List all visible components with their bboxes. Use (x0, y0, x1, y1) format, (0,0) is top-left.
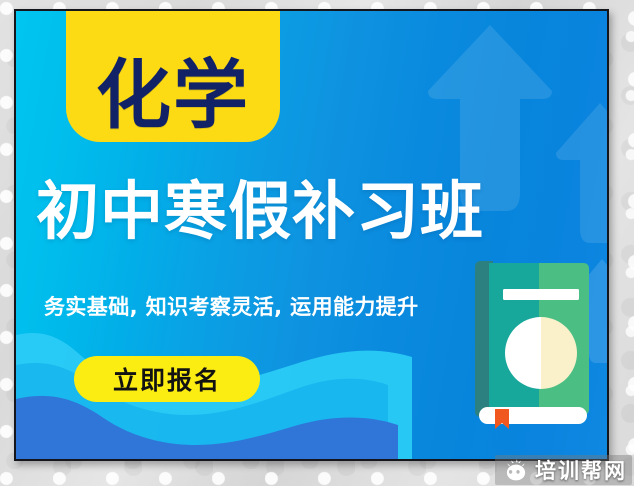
watermark: 培训帮网 (495, 455, 632, 485)
subject-badge: 化学 (66, 9, 280, 142)
page-background: 化学 初中寒假补习班 务实基础, 知识考察灵活, 运用能力提升 立即报名 (0, 0, 634, 486)
enroll-now-button[interactable]: 立即报名 (74, 356, 260, 402)
watermark-text: 培训帮网 (535, 455, 627, 485)
promo-banner: 化学 初中寒假补习班 务实基础, 知识考察灵活, 运用能力提升 立即报名 (14, 9, 609, 461)
enroll-now-button-label: 立即报名 (113, 361, 221, 397)
headline: 初中寒假补习班 (36, 179, 592, 245)
subject-badge-label: 化学 (96, 60, 250, 131)
textbook-illustration (471, 257, 596, 429)
sun-face-icon (504, 459, 528, 481)
subtitle: 务实基础, 知识考察灵活, 运用能力提升 (44, 291, 419, 321)
